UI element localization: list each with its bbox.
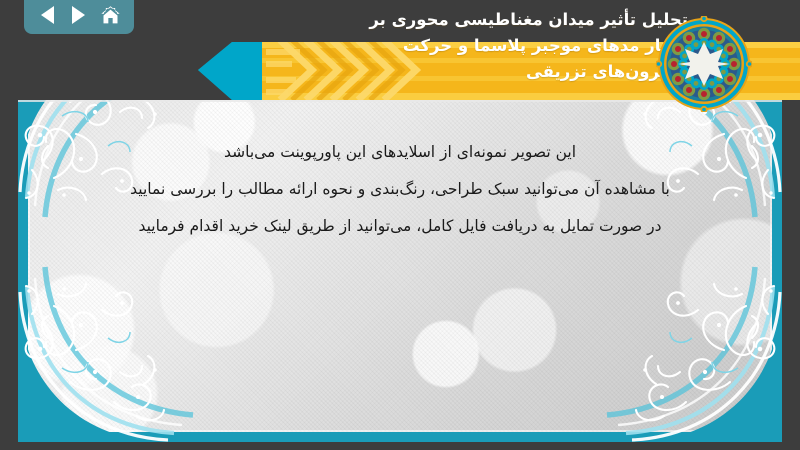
- title-line-2: رفتار مدهای موجبر پلاسما و حرکت: [270, 33, 688, 59]
- triangle-right-icon: [72, 6, 85, 24]
- title-line-1: تحلیل تأثیر میدان مغناطیسی محوری بر: [270, 7, 688, 33]
- body-line-1: این تصویر نمونه‌ای از اسلایدهای این پاور…: [74, 134, 726, 171]
- persian-medallion-ornament: [656, 16, 752, 112]
- body-line-2: با مشاهده آن می‌توانید سبک طراحی، رنگ‌بن…: [74, 171, 726, 208]
- title-line-3: الکترون‌های تزریقی: [270, 59, 688, 85]
- slide-body-text: این تصویر نمونه‌ای از اسلایدهای این پاور…: [74, 134, 726, 245]
- slide-navigation-toolbar: [24, 0, 134, 34]
- presentation-viewer: این تصویر نمونه‌ای از اسلایدهای این پاور…: [0, 0, 800, 450]
- slide-title: تحلیل تأثیر میدان مغناطیسی محوری بر رفتا…: [270, 7, 688, 85]
- triangle-left-icon: [41, 6, 54, 24]
- home-button[interactable]: [97, 2, 123, 28]
- next-slide-button[interactable]: [66, 2, 92, 28]
- previous-slide-button[interactable]: [35, 2, 61, 28]
- home-icon: [100, 5, 121, 25]
- body-line-3: در صورت تمایل به دریافت فایل کامل، می‌تو…: [74, 208, 726, 245]
